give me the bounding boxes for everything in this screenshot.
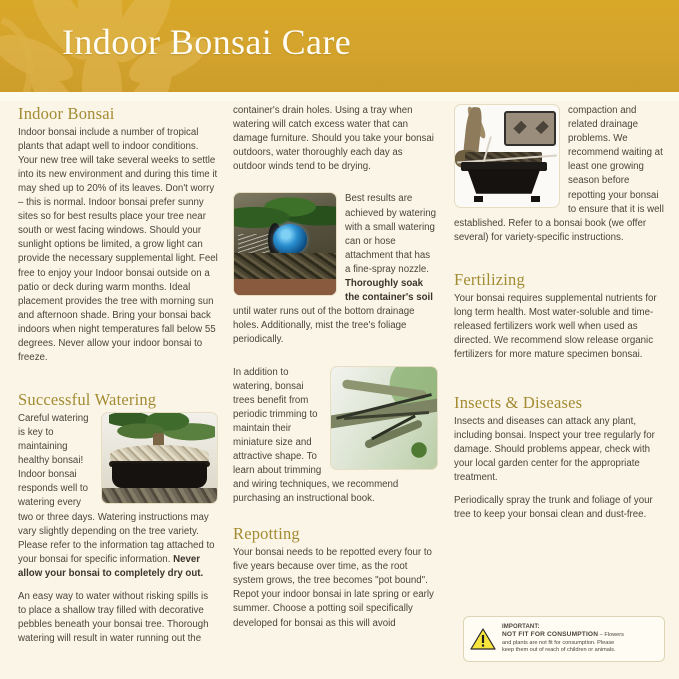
paragraph-fertilizing: Your bonsai requires supplemental nutrie… [454,292,664,362]
warning-line-detail-1: and plants are not fit for consumption. … [502,640,624,647]
paragraph-insects: Insects and diseases can attack any plan… [454,415,664,485]
spacer [454,254,664,270]
paragraph-repotting: Your bonsai needs to be repotted every f… [233,546,438,631]
heading-insects-diseases: Insects & Diseases [454,393,664,414]
spacer [233,357,438,366]
spacer [454,371,664,393]
heading-indoor-bonsai: Indoor Bonsai [18,104,218,125]
heading-repotting: Repotting [233,524,438,545]
heading-successful-watering: Successful Watering [18,390,218,411]
page-title: Indoor Bonsai Care [62,21,351,63]
warning-triangle-icon [470,627,496,651]
warning-box: IMPORTANT: NOT FIT FOR CONSUMPTION – Flo… [463,616,665,662]
paragraph-best-results-text: Best results are achieved by watering wi… [345,193,436,274]
warning-text-block: IMPORTANT: NOT FIT FOR CONSUMPTION – Flo… [502,624,624,655]
wired-branches-photo [330,366,438,470]
paragraph-best-results-bold: Thoroughly soak the container's soil [345,278,433,303]
hose-nozzle-watering-photo [233,192,337,296]
spacer [18,374,218,390]
paragraph-spray-trunk: Periodically spray the trunk and foliage… [454,494,664,522]
pot-drainage-diagram-photo [454,104,560,208]
column-right: compaction and related drainage problems… [454,104,664,679]
paragraph-best-results-cont: until water runs out of the bottom drain… [233,306,414,345]
page-header: Indoor Bonsai Care [0,0,679,92]
warning-notfit-label: NOT FIT FOR CONSUMPTION [502,631,598,638]
warning-line-detail-2: keep them out of reach of children or an… [502,647,624,654]
warning-flowers-label: – Flowers [598,632,624,638]
warning-line-important: IMPORTANT: [502,624,624,631]
bonsai-in-pot-photo [101,412,218,504]
paragraph-indoor-bonsai: Indoor bonsai include a number of tropic… [18,126,218,366]
warning-line-main: NOT FIT FOR CONSUMPTION – Flowers [502,631,624,639]
column-left: Indoor Bonsai Indoor bonsai include a nu… [18,104,218,679]
heading-fertilizing: Fertilizing [454,270,664,291]
bonsai-care-page: Indoor Bonsai Care Indoor Bonsai Indoor … [0,0,679,679]
content-columns: Indoor Bonsai Indoor bonsai include a nu… [0,104,679,679]
header-divider-strip [0,92,679,101]
column-middle: container's drain holes. Using a tray wh… [233,104,438,679]
spacer [233,515,438,524]
paragraph-drain-holes: container's drain holes. Using a tray wh… [233,104,438,174]
paragraph-pebble-tray: An easy way to water without risking spi… [18,590,218,646]
spacer [233,183,438,192]
